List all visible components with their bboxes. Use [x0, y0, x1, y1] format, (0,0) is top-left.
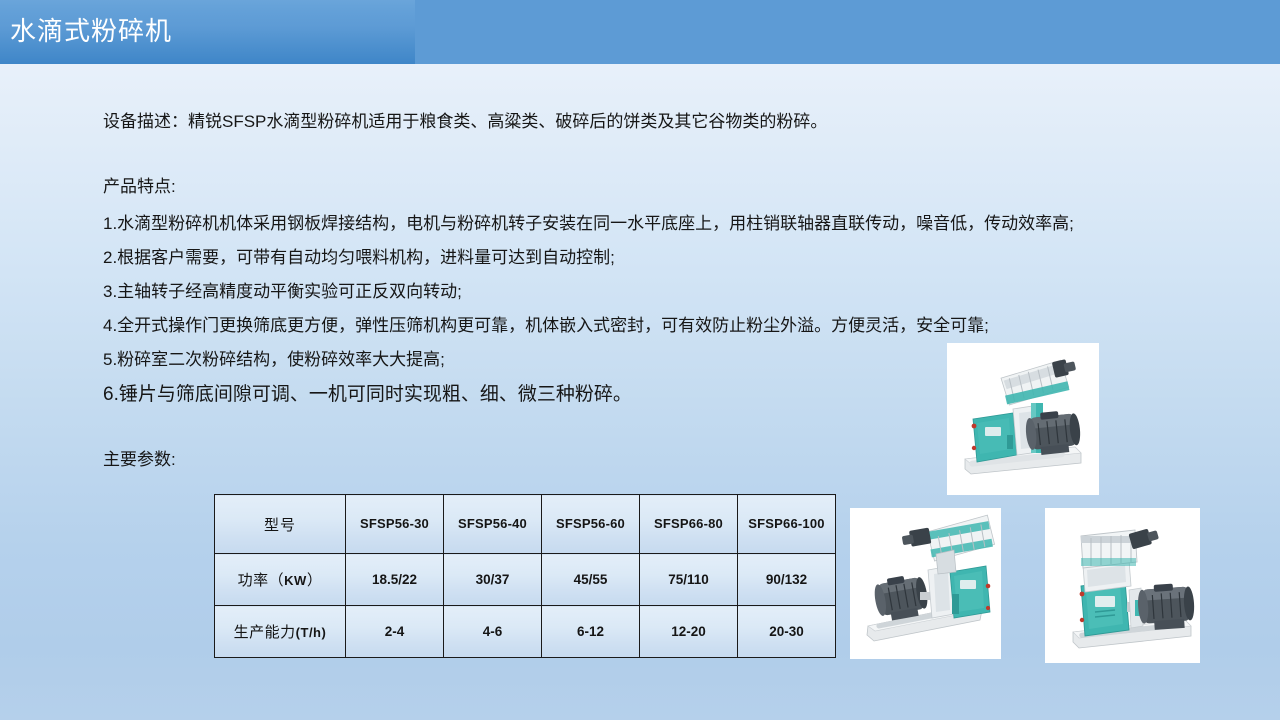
product-photo-3 [1045, 508, 1200, 663]
hammer-mill-illustration-2 [850, 508, 1001, 659]
header-label-model: 型号 [264, 517, 296, 534]
header-label-sfsp56-40: SFSP56-40 [458, 516, 527, 531]
cell-power-4: 75/110 [668, 572, 709, 587]
table-header-cell-2: SFSP56-40 [444, 495, 542, 554]
header-label-sfsp56-30: SFSP56-30 [360, 516, 429, 531]
specification-table: 型号 SFSP56-30 SFSP56-40 SFSP56-60 SFSP66-… [214, 494, 836, 658]
row-label-power-cn: 功率（ [238, 572, 285, 589]
table-header-row: 型号 SFSP56-30 SFSP56-40 SFSP56-60 SFSP66-… [215, 495, 836, 554]
spec-table-container: 型号 SFSP56-30 SFSP56-40 SFSP56-60 SFSP66-… [214, 494, 836, 658]
table-cell: 45/55 [542, 554, 640, 606]
table-cell: 12-20 [640, 606, 738, 658]
equipment-description: 设备描述：精锐SFSP水滴型粉碎机适用于粮食类、高粱类、破碎后的饼类及其它谷物类… [103, 110, 827, 134]
cell-capacity-2: 4-6 [483, 624, 503, 639]
table-cell: 4-6 [444, 606, 542, 658]
main-parameters-title: 主要参数: [103, 448, 176, 472]
table-header-cell-3: SFSP56-60 [542, 495, 640, 554]
table-header-cell-5: SFSP66-100 [738, 495, 836, 554]
slide-header-bar: 水滴式粉碎机 [0, 0, 1280, 64]
row-label-capacity-unit: (T/h) [296, 625, 327, 640]
header-label-sfsp66-100: SFSP66-100 [748, 516, 824, 531]
table-header-cell-model: 型号 [215, 495, 346, 554]
table-cell: 18.5/22 [346, 554, 444, 606]
page-title: 水滴式粉碎机 [10, 14, 172, 48]
product-photo-1 [947, 343, 1099, 495]
cell-capacity-1: 2-4 [385, 624, 405, 639]
cell-capacity-4: 12-20 [671, 624, 706, 639]
row-label-power-cn-end: ） [307, 572, 323, 589]
cell-capacity-5: 20-30 [769, 624, 804, 639]
table-cell: 20-30 [738, 606, 836, 658]
table-cell: 90/132 [738, 554, 836, 606]
row-label-capacity: 生产能力(T/h) [234, 624, 327, 641]
row-label-cell-power: 功率（KW） [215, 554, 346, 606]
cell-power-2: 30/37 [476, 572, 510, 587]
table-cell: 75/110 [640, 554, 738, 606]
cell-power-1: 18.5/22 [372, 572, 417, 587]
row-label-capacity-cn: 生产能力 [234, 624, 296, 641]
feature-item-3: 3.主轴转子经高精度动平衡实验可正反双向转动; [103, 275, 1223, 309]
table-cell: 2-4 [346, 606, 444, 658]
cell-power-5: 90/132 [766, 572, 807, 587]
row-label-power: 功率（KW） [238, 572, 323, 589]
feature-item-2: 2.根据客户需要，可带有自动均匀喂料机构，进料量可达到自动控制; [103, 241, 1223, 275]
hammer-mill-illustration-1 [947, 343, 1099, 495]
feature-item-4: 4.全开式操作门更换筛底更方便，弹性压筛机构更可靠，机体嵌入式密封，可有效防止粉… [103, 309, 1223, 343]
table-cell: 30/37 [444, 554, 542, 606]
table-row-power: 功率（KW） 18.5/22 30/37 45/55 75/110 [215, 554, 836, 606]
row-label-cell-capacity: 生产能力(T/h) [215, 606, 346, 658]
row-label-power-unit: KW [284, 573, 307, 588]
hammer-mill-illustration-3 [1045, 508, 1200, 663]
header-label-sfsp66-80: SFSP66-80 [654, 516, 723, 531]
cell-power-3: 45/55 [574, 572, 608, 587]
feature-item-1: 1.水滴型粉碎机机体采用钢板焊接结构，电机与粉碎机转子安装在同一水平底座上，用柱… [103, 207, 1223, 241]
table-row-capacity: 生产能力(T/h) 2-4 4-6 6-12 12-20 2 [215, 606, 836, 658]
header-label-sfsp56-60: SFSP56-60 [556, 516, 625, 531]
product-features-title: 产品特点: [103, 175, 176, 199]
table-header-cell-1: SFSP56-30 [346, 495, 444, 554]
table-cell: 6-12 [542, 606, 640, 658]
table-header-cell-4: SFSP66-80 [640, 495, 738, 554]
cell-capacity-3: 6-12 [577, 624, 604, 639]
product-photo-2 [850, 508, 1001, 659]
